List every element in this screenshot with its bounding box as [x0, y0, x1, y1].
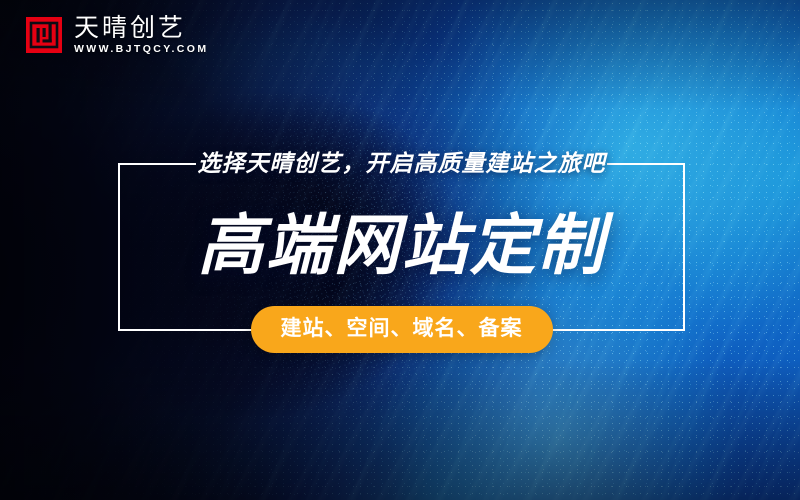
- logo-website-url: WWW.BJTQCY.COM: [74, 44, 209, 55]
- frame-border-bottom-left: [118, 329, 268, 331]
- logo-mark-icon: [26, 17, 62, 53]
- frame-border-bottom-right: [535, 329, 685, 331]
- promo-banner: 天晴创艺 WWW.BJTQCY.COM 选择天晴创艺，开启高质量建站之旅吧 高端…: [0, 0, 800, 500]
- logo-company-name: 天晴创艺: [74, 16, 209, 41]
- services-cta-button[interactable]: 建站、空间、域名、备案: [251, 306, 553, 353]
- banner-title: 高端网站定制: [118, 209, 685, 281]
- logo-wordmark: 天晴创艺 WWW.BJTQCY.COM: [74, 16, 209, 55]
- headline-frame: 选择天晴创艺，开启高质量建站之旅吧 高端网站定制 建站、空间、域名、备案: [118, 163, 685, 331]
- banner-subtitle: 选择天晴创艺，开启高质量建站之旅吧: [118, 148, 685, 178]
- brand-logo[interactable]: 天晴创艺 WWW.BJTQCY.COM: [26, 16, 209, 55]
